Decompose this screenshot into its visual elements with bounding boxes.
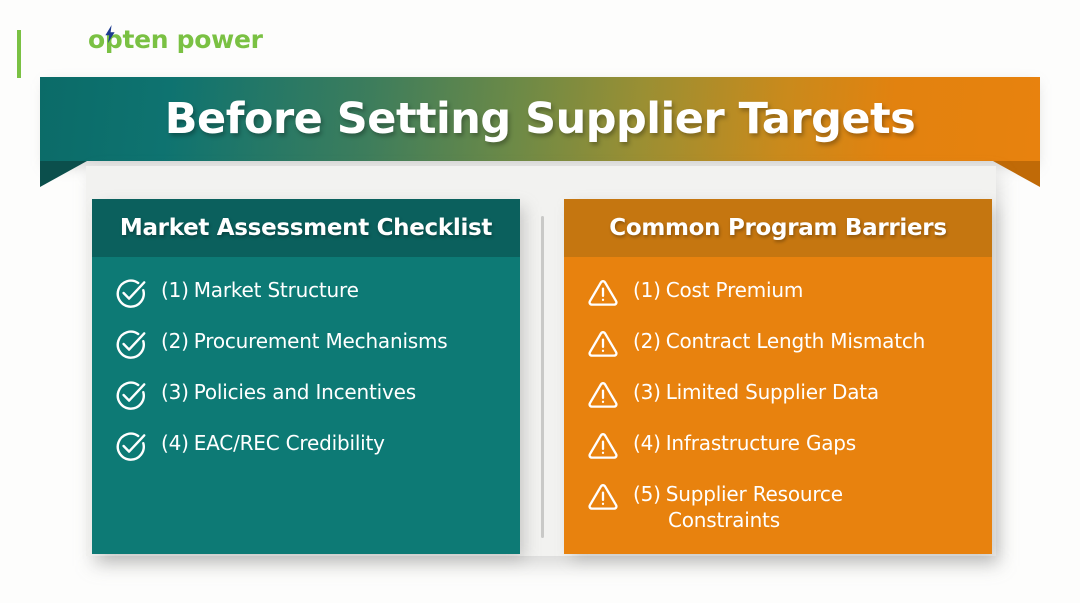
warning-triangle-icon [586,429,620,463]
warning-triangle-icon [586,276,620,310]
list-item-label: (5)Supplier ResourceConstraints [633,479,843,534]
brand-logo: opten power [88,22,263,56]
list-item-label: (4)Infrastructure Gaps [633,428,856,456]
list-item: (4)Infrastructure Gaps [564,428,992,463]
list-item-number: (5) [633,482,661,506]
list-item-label: (4)EAC/REC Credibility [161,428,385,456]
list-item-number: (3) [161,380,189,404]
card-right-header: Common Program Barriers [564,199,992,257]
logo-stem-decoration [17,30,21,78]
list-item-label: (3)Limited Supplier Data [633,377,879,405]
card-left-header-text: Market Assessment Checklist [120,215,492,241]
warning-triangle-icon [586,327,620,361]
vertical-divider [541,216,544,538]
list-item-number: (4) [633,431,661,455]
banner-fold-left [40,161,87,187]
list-item: (5)Supplier ResourceConstraints [564,479,992,534]
check-circle-icon [114,327,148,361]
list-item-label: (2)Procurement Mechanisms [161,326,448,354]
card-left-header: Market Assessment Checklist [92,199,520,257]
card-right-header-text: Common Program Barriers [609,215,946,241]
card-common-program-barriers: Common Program Barriers (1)Cost Premium(… [564,199,992,554]
page-title: Before Setting Supplier Targets [165,94,915,144]
list-item-number: (4) [161,431,189,455]
card-market-assessment-checklist: Market Assessment Checklist (1)Market St… [92,199,520,554]
title-banner: Before Setting Supplier Targets [40,77,1040,161]
checklist-items: (1)Market Structure(2)Procurement Mechan… [92,257,520,463]
list-item: (2)Procurement Mechanisms [92,326,520,361]
list-item-label: (1)Cost Premium [633,275,803,303]
list-item-label-line2: Constraints [633,507,843,533]
list-item-number: (2) [161,329,189,353]
list-item: (3)Policies and Incentives [92,377,520,412]
check-circle-icon [114,276,148,310]
list-item-number: (2) [633,329,661,353]
list-item-number: (1) [633,278,661,302]
list-item: (3)Limited Supplier Data [564,377,992,412]
lightning-bolt-icon [103,25,117,43]
list-item: (1)Market Structure [92,275,520,310]
list-item: (4)EAC/REC Credibility [92,428,520,463]
warning-triangle-icon [586,378,620,412]
slide-canvas: opten power Before Setting Supplier Targ… [0,0,1080,603]
list-item-label: (2)Contract Length Mismatch [633,326,925,354]
banner-fold-right [993,161,1040,187]
list-item-number: (3) [633,380,661,404]
list-item: (2)Contract Length Mismatch [564,326,992,361]
warning-triangle-icon [586,480,620,514]
list-item-number: (1) [161,278,189,302]
barrier-items: (1)Cost Premium(2)Contract Length Mismat… [564,257,992,534]
list-item-label: (3)Policies and Incentives [161,377,416,405]
list-item: (1)Cost Premium [564,275,992,310]
check-circle-icon [114,429,148,463]
list-item-label: (1)Market Structure [161,275,359,303]
check-circle-icon [114,378,148,412]
